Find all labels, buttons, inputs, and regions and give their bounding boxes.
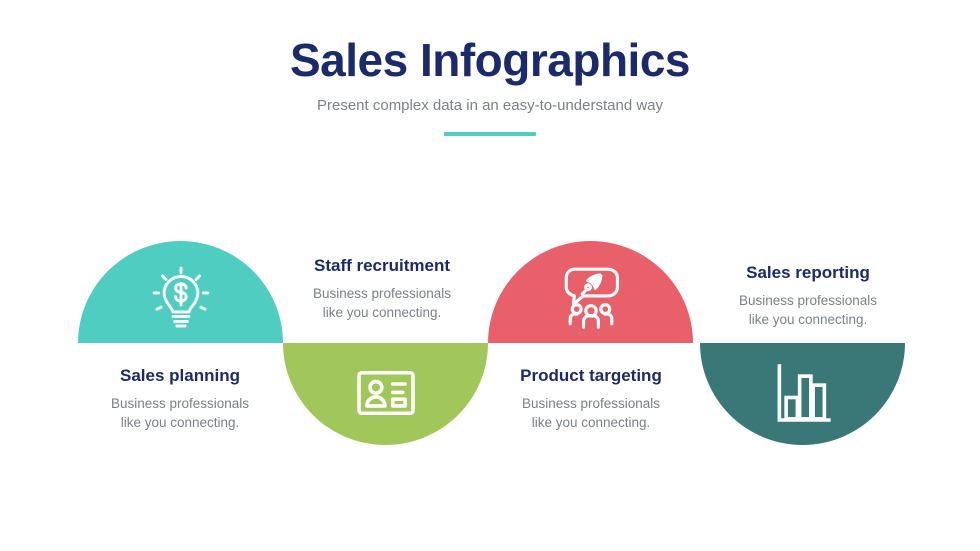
label-body: Business professionals like you connecti… (267, 284, 497, 322)
label-heading: Sales planning (65, 365, 295, 387)
label-body-line-1: Business professionals (65, 394, 295, 413)
segment-sales-reporting[interactable] (700, 343, 905, 445)
label-body: Business professionals like you connecti… (476, 394, 706, 432)
semicircle-shape-4 (700, 343, 905, 445)
label-sales-reporting: Sales reporting Business professionals l… (693, 262, 923, 329)
label-product-targeting: Product targeting Business professionals… (476, 365, 706, 432)
label-heading: Sales reporting (693, 262, 923, 284)
label-body: Business professionals like you connecti… (65, 394, 295, 432)
label-heading: Product targeting (476, 365, 706, 387)
label-sales-planning: Sales planning Business professionals li… (65, 365, 295, 432)
label-body: Business professionals like you connecti… (693, 291, 923, 329)
label-body-line-1: Business professionals (267, 284, 497, 303)
label-body-line-2: like you connecting. (65, 413, 295, 432)
label-body-line-2: like you connecting. (267, 303, 497, 322)
segment-staff-recruitment[interactable] (283, 343, 488, 445)
label-body-line-1: Business professionals (693, 291, 923, 310)
semicircle-shape-3 (488, 241, 693, 343)
segment-sales-planning[interactable] (78, 241, 283, 343)
segment-product-targeting[interactable] (488, 241, 693, 343)
infographic-band: Sales planning Business professionals li… (0, 0, 980, 551)
label-body-line-1: Business professionals (476, 394, 706, 413)
label-body-line-2: like you connecting. (693, 310, 923, 329)
semicircle-shape-2 (283, 343, 488, 445)
label-body-line-2: like you connecting. (476, 413, 706, 432)
semicircle-shape-1 (78, 241, 283, 343)
label-staff-recruitment: Staff recruitment Business professionals… (267, 255, 497, 322)
label-heading: Staff recruitment (267, 255, 497, 277)
slide-canvas: Sales Infographics Present complex data … (0, 0, 980, 551)
